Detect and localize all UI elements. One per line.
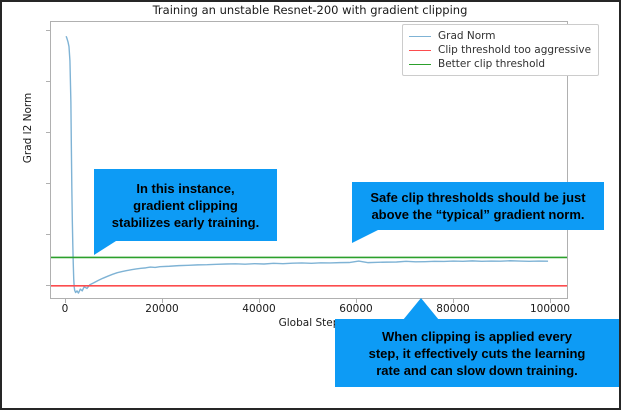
x-tick-label: 100000 bbox=[530, 303, 570, 315]
x-tick-mark bbox=[453, 299, 454, 303]
legend-label: Better clip threshold bbox=[438, 58, 545, 70]
callout-tail bbox=[352, 230, 378, 243]
y-axis-label: Grad l2 Norm bbox=[22, 58, 34, 198]
legend-swatch-clip-aggressive bbox=[409, 50, 431, 51]
callout-line: step, it effectively cuts the learning bbox=[343, 345, 611, 362]
legend-label: Grad Norm bbox=[438, 30, 496, 42]
chart-screenshot: Training an unstable Resnet-200 with gra… bbox=[0, 0, 621, 410]
callout-tail bbox=[94, 241, 116, 255]
legend-swatch-better-clip bbox=[409, 64, 431, 65]
callout-text: Safe clip thresholds should be just abov… bbox=[352, 182, 604, 230]
legend-item[interactable]: Better clip threshold bbox=[409, 57, 591, 71]
x-tick-label: 40000 bbox=[242, 303, 275, 315]
x-tick-mark bbox=[259, 299, 260, 303]
chart-title: Training an unstable Resnet-200 with gra… bbox=[50, 3, 570, 17]
legend-item[interactable]: Clip threshold too aggressive bbox=[409, 43, 591, 57]
x-tick-mark bbox=[356, 299, 357, 303]
callout-line: gradient clipping bbox=[100, 197, 271, 214]
legend: Grad Norm Clip threshold too aggressive … bbox=[402, 24, 599, 76]
callout-line: stabilizes early training. bbox=[100, 214, 271, 231]
callout-text: In this instance, gradient clipping stab… bbox=[94, 169, 277, 241]
callout-line: rate and can slow down training. bbox=[343, 362, 611, 379]
x-tick-mark bbox=[65, 299, 66, 303]
callout-line: In this instance, bbox=[100, 180, 271, 197]
figure: Training an unstable Resnet-200 with gra… bbox=[2, 2, 619, 408]
callout-line: above the “typical” gradient norm. bbox=[360, 206, 596, 223]
legend-swatch-grad-norm bbox=[409, 36, 431, 37]
x-tick-label: 0 bbox=[62, 303, 69, 315]
legend-label: Clip threshold too aggressive bbox=[438, 44, 591, 56]
callout-text: When clipping is applied every step, it … bbox=[335, 319, 619, 387]
x-tick-label: 80000 bbox=[436, 303, 469, 315]
callout-line: Safe clip thresholds should be just bbox=[360, 189, 596, 206]
legend-item[interactable]: Grad Norm bbox=[409, 29, 591, 43]
x-tick-mark bbox=[550, 299, 551, 303]
x-tick-label: 60000 bbox=[339, 303, 372, 315]
x-tick-label: 20000 bbox=[145, 303, 178, 315]
callout-tail bbox=[403, 298, 439, 320]
callout-line: When clipping is applied every bbox=[343, 328, 611, 345]
x-tick-mark bbox=[162, 299, 163, 303]
